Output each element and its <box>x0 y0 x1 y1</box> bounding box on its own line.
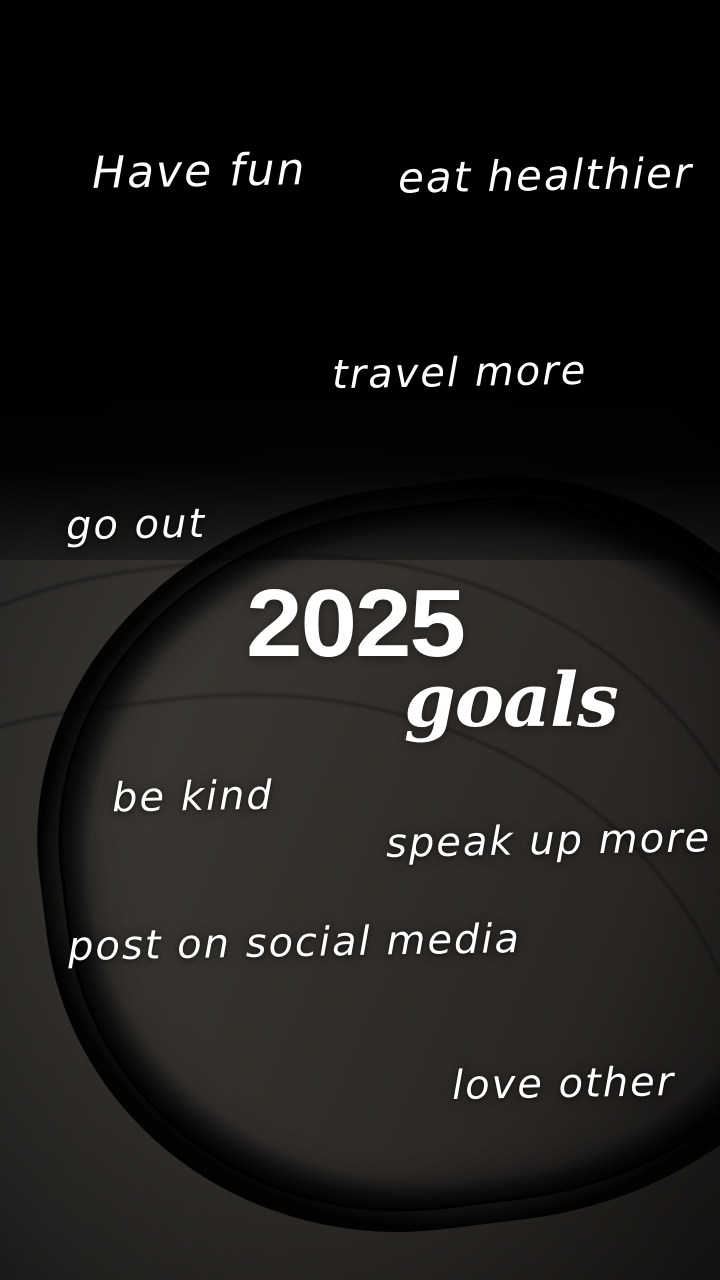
note-speak-up-more: speak up more <box>386 818 712 864</box>
note-have-fun: Have fun <box>92 148 307 196</box>
note-go-out: go out <box>66 504 207 546</box>
note-be-kind: be kind <box>112 776 274 819</box>
note-travel-more: travel more <box>332 351 588 395</box>
headline-goals: goals <box>404 664 618 738</box>
note-love-other: love other <box>452 1062 676 1106</box>
note-eat-healthier: eat healthier <box>398 152 694 199</box>
headline-block: 2025 goals <box>0 576 720 756</box>
text-overlay: Have fun eat healthier travel more go ou… <box>0 0 720 1280</box>
note-post-on-social-media: post on social media <box>68 919 522 967</box>
story-canvas: Have fun eat healthier travel more go ou… <box>0 0 720 1280</box>
